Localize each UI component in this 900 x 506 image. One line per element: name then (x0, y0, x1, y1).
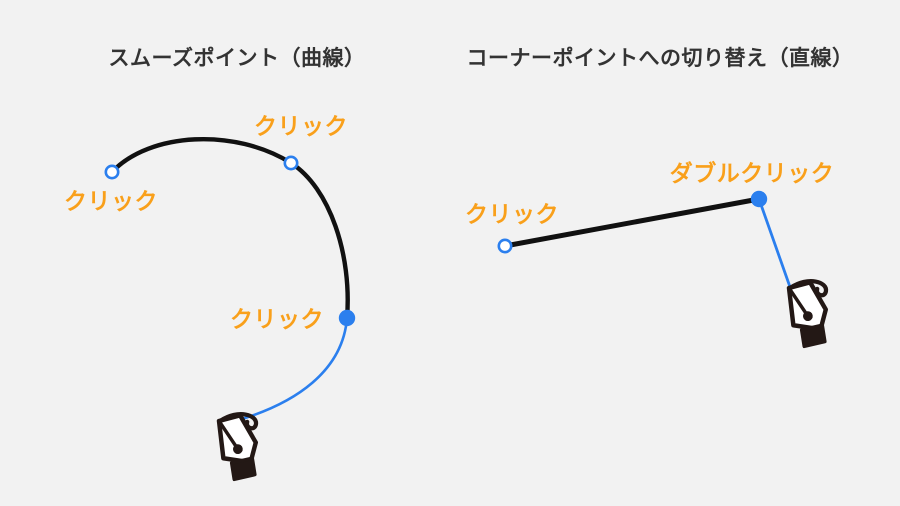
anchor-point-open[interactable] (499, 240, 511, 252)
panel-title-smooth-point: スムーズポイント（曲線） (109, 42, 366, 72)
illustration-canvas: スムーズポイント（曲線） コーナーポイントへの切り替え（直線） クリック クリッ… (0, 0, 900, 506)
callout-label-double-click: ダブルクリック (670, 154, 835, 188)
pen-tool-icon (767, 270, 852, 355)
callout-label-click: クリック (230, 300, 324, 334)
anchor-point-open[interactable] (106, 166, 118, 178)
vector-artwork (0, 0, 900, 506)
preview-line-path (759, 199, 790, 287)
anchor-point-open[interactable] (285, 157, 297, 169)
anchor-point-active[interactable] (339, 310, 355, 326)
anchor-point-active[interactable] (751, 191, 767, 207)
pen-tool-icon (197, 403, 282, 488)
callout-label-click: クリック (64, 182, 158, 216)
callout-label-click: クリック (254, 107, 348, 141)
committed-curve-path (112, 139, 348, 318)
callout-label-click: クリック (465, 195, 559, 229)
panel-title-corner-point: コーナーポイントへの切り替え（直線） (467, 42, 854, 72)
